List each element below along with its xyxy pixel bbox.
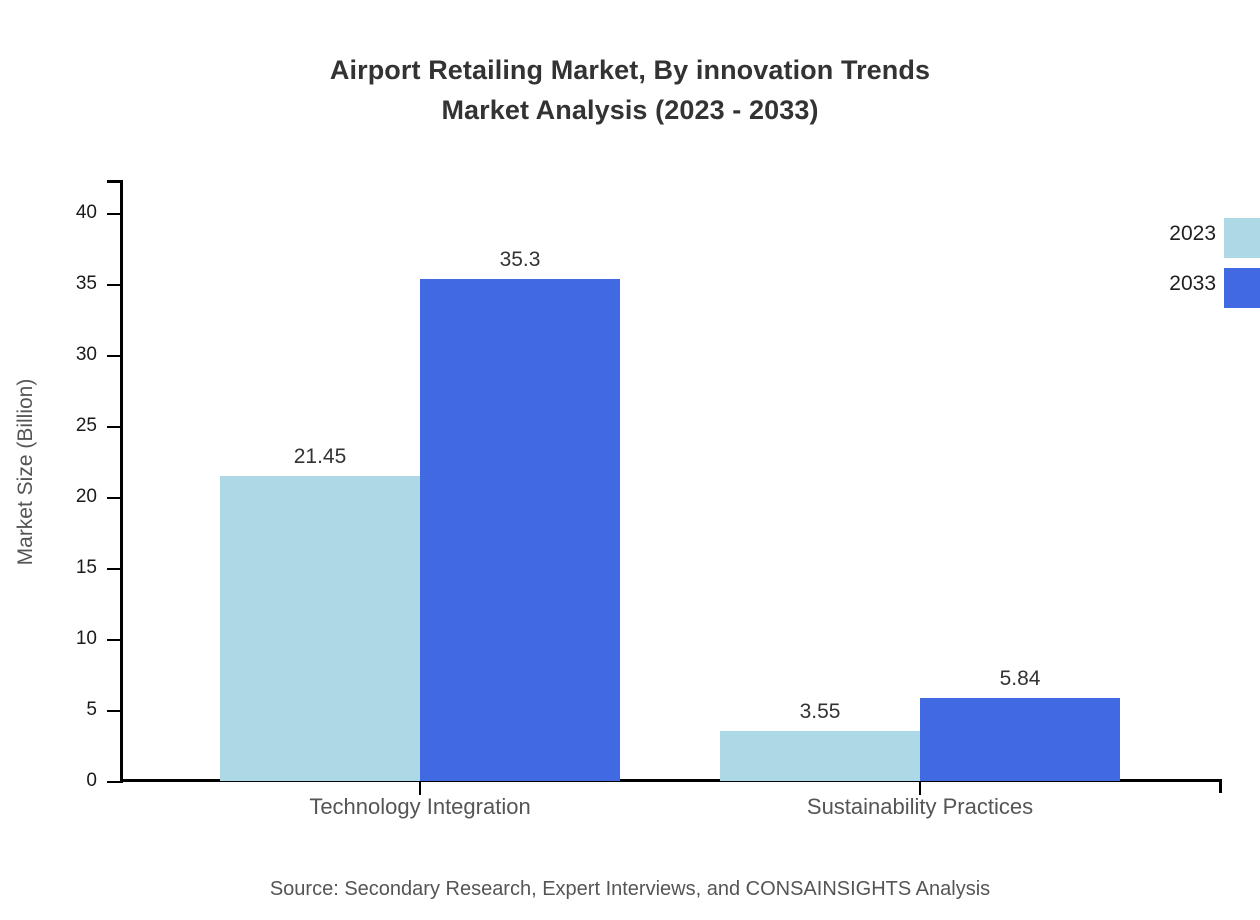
x-axis-category-label: Sustainability Practices: [807, 794, 1033, 820]
y-axis-tick: [107, 639, 121, 641]
y-axis-tick: [107, 710, 121, 712]
y-axis-tick: [107, 355, 121, 357]
y-axis-tick-label: 30: [76, 344, 97, 366]
bar-value-label: 21.45: [294, 445, 347, 469]
legend-label: 2033: [1130, 272, 1216, 296]
y-axis-tick-label: 20: [76, 486, 97, 508]
bar-2033-technology-integration[interactable]: [420, 279, 620, 781]
y-axis-tick: [107, 426, 121, 428]
bar-2033-sustainability-practices[interactable]: [920, 698, 1120, 781]
legend: 2023 2033: [1130, 218, 1260, 318]
y-axis-line: [120, 180, 123, 783]
bar-chart: Airport Retailing Market, By innovation …: [0, 0, 1260, 920]
y-axis-tick: [107, 213, 121, 215]
x-axis-end-cap: [1219, 779, 1222, 793]
chart-title: Airport Retailing Market, By innovation …: [0, 50, 1260, 130]
legend-swatch-2033: [1224, 268, 1260, 308]
y-axis-tick-label: 10: [76, 628, 97, 650]
x-axis-category-label: Technology Integration: [309, 794, 530, 820]
bar-2023-technology-integration[interactable]: [220, 476, 420, 781]
y-axis-tick: [107, 781, 121, 783]
bar-value-label: 5.84: [1000, 667, 1041, 691]
y-axis-top-cap: [107, 180, 122, 183]
bar-value-label: 35.3: [500, 248, 541, 272]
y-axis-tick-label: 35: [76, 273, 97, 295]
legend-label: 2023: [1130, 222, 1216, 246]
chart-title-line-2: Market Analysis (2023 - 2033): [0, 90, 1260, 130]
y-axis-tick: [107, 284, 121, 286]
y-axis-title: Market Size (Billion): [14, 122, 38, 822]
y-axis-tick-label: 40: [76, 202, 97, 224]
source-note: Source: Secondary Research, Expert Inter…: [0, 878, 1260, 901]
y-axis-tick-label: 25: [76, 415, 97, 437]
y-axis-tick: [107, 568, 121, 570]
bar-value-label: 3.55: [800, 700, 841, 724]
y-axis-tick: [107, 497, 121, 499]
legend-item-2033[interactable]: 2033: [1130, 268, 1260, 308]
legend-item-2023[interactable]: 2023: [1130, 218, 1260, 258]
y-axis-tick-label: 15: [76, 557, 97, 579]
chart-title-line-1: Airport Retailing Market, By innovation …: [330, 55, 930, 85]
legend-swatch-2023: [1224, 218, 1260, 258]
y-axis-tick-label: 0: [86, 770, 97, 792]
bar-2023-sustainability-practices[interactable]: [720, 731, 920, 781]
y-axis-tick-label: 5: [86, 699, 97, 721]
